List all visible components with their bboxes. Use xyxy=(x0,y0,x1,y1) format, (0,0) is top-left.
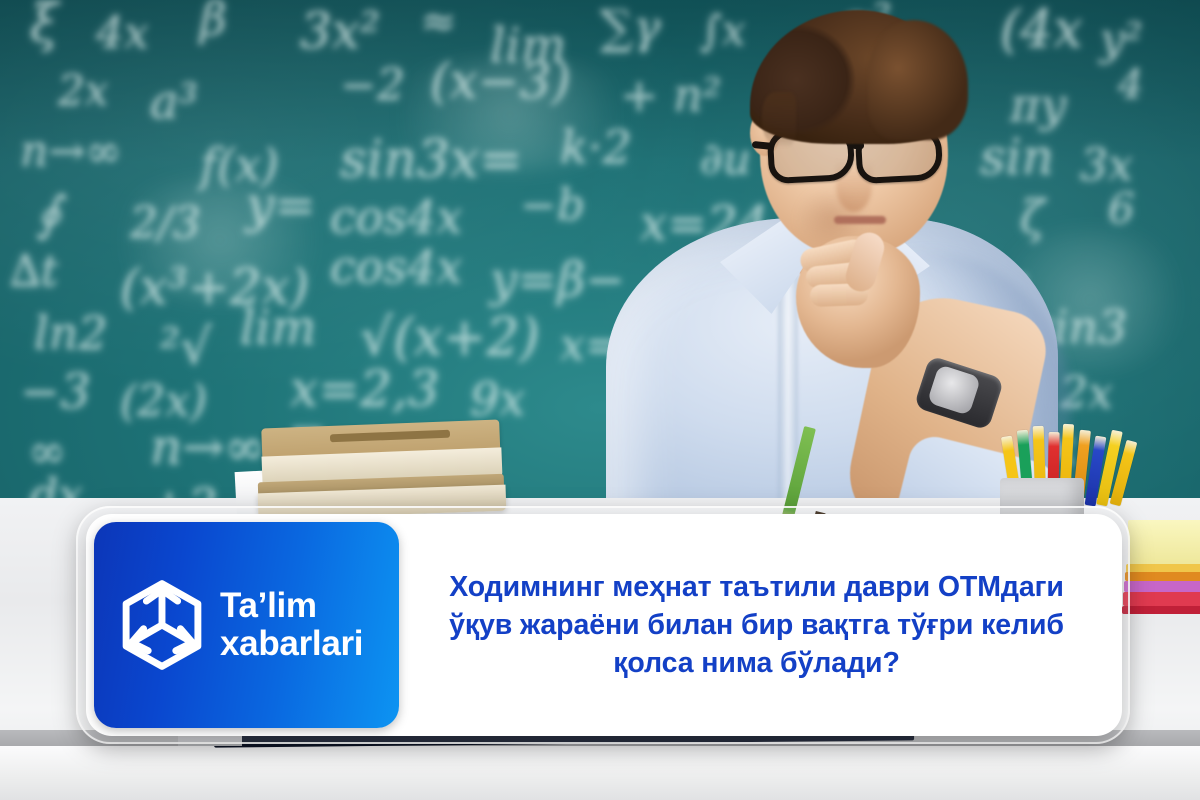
headline-text: Ходимнинг меҳнат таътили даври ОТМдаги ў… xyxy=(417,568,1096,683)
paper-stack-sheet xyxy=(1125,572,1200,581)
logo-wordmark-line-1: Ta’lim xyxy=(220,587,363,625)
hair-highlight xyxy=(868,20,968,140)
banner-screenshot: ξ 4x β 3x² ≈ lim ∑γ ∫x α² (4x y² 2x a³ −… xyxy=(0,0,1200,800)
paper-stack-sheet xyxy=(1128,520,1200,566)
paper-stack-sheet xyxy=(1124,581,1200,592)
logo-panel[interactable]: Ta’lim xabarlari xyxy=(94,522,399,728)
headline-panel: Ходимнинг меҳнат таътили даври ОТМдаги ў… xyxy=(399,514,1122,736)
paper-stack-sheet xyxy=(1122,606,1200,614)
cube-outward-arrows-icon xyxy=(116,577,208,673)
logo-wordmark-line-2: xabarlari xyxy=(220,625,363,663)
banner-card: Ta’lim xabarlari Ходимнинг меҳнат таътил… xyxy=(86,514,1122,736)
sideburn xyxy=(762,92,796,148)
logo-wordmark: Ta’lim xabarlari xyxy=(220,587,363,663)
desk-front-panel xyxy=(0,746,1200,800)
student-figure xyxy=(600,0,1070,560)
mouth xyxy=(834,216,886,224)
paper-stack-sheet xyxy=(1123,592,1200,606)
